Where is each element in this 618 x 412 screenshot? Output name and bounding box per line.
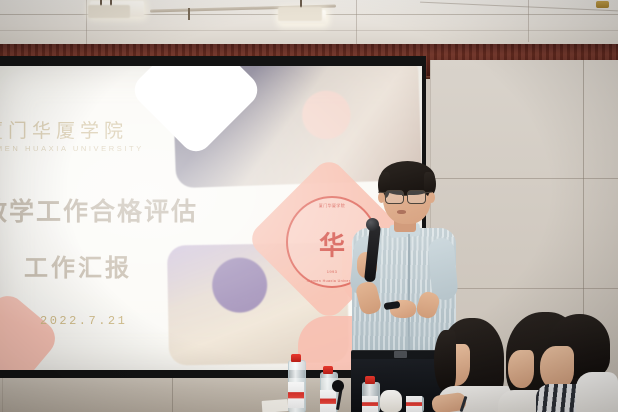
bottle-label: [406, 396, 422, 412]
slide-date: 2022.7.21: [40, 314, 127, 328]
water-bottle: [362, 382, 378, 412]
conference-room-photo: 华 厦门华厦学院 1993 Xiamen Huaxia University 厦…: [0, 0, 618, 412]
seal-monogram: 华: [319, 225, 345, 262]
smoke-detector: [596, 1, 609, 8]
bottle-cap: [365, 376, 375, 384]
slide-shape-pink-left: [0, 289, 62, 370]
wall-seam: [172, 378, 173, 412]
notepad: [262, 399, 289, 412]
attendee-white-shirt: [576, 372, 618, 412]
paper-cup: [380, 390, 402, 412]
wall-seam: [430, 288, 618, 289]
slide-title-line1: 教学工作合格评估: [0, 192, 198, 228]
ceiling-projector: [278, 7, 322, 21]
glasses-lens-left: [385, 190, 404, 204]
bottle-cap: [291, 354, 301, 362]
ceiling-seam: [356, 0, 357, 44]
presenter-ear: [428, 192, 435, 203]
ceiling-seam: [0, 30, 618, 31]
microphone-head: [366, 218, 379, 231]
water-bottle: [320, 372, 336, 412]
bottle-label: [362, 396, 378, 412]
bottle-cap: [323, 366, 333, 374]
wall-seam: [2, 378, 3, 412]
water-bottle: [288, 360, 304, 412]
attendee-face: [508, 350, 534, 388]
presenter-sleeve: [427, 237, 458, 301]
water-bottle: [406, 396, 422, 412]
wall-seam: [430, 178, 618, 179]
university-logo-cn: 厦门华厦学院: [0, 116, 128, 143]
ceiling-hanger: [188, 8, 190, 20]
glasses-bridge: [402, 195, 407, 196]
presenter-mouth: [397, 210, 406, 214]
bottle-label: [288, 382, 304, 408]
attendee-hair: [434, 330, 456, 392]
slide-title-line2: 工作汇报: [24, 248, 132, 283]
belt-buckle: [394, 351, 407, 358]
seal-text-cn: 厦门华厦学院: [288, 203, 376, 209]
ceiling-seam: [86, 0, 87, 46]
university-logo-en: XIAMEN HUAXIA UNIVERSITY: [0, 144, 144, 153]
bottle-label: [320, 390, 336, 412]
presenter-shirt-placket: [408, 234, 410, 358]
ceiling-projector: [88, 5, 130, 18]
desk-microphone-head: [332, 380, 344, 392]
